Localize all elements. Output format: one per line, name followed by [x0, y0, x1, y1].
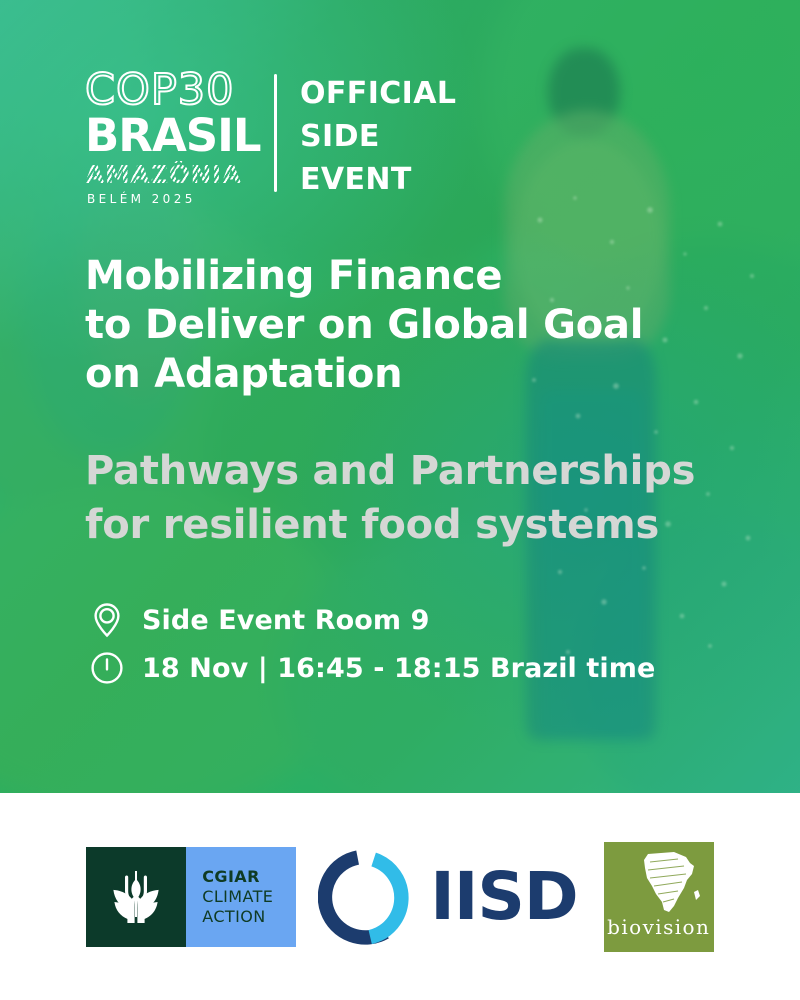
- iisd-wordmark: IISD: [430, 864, 577, 930]
- iisd-logo: IISD: [318, 849, 577, 945]
- event-title-line-1: Mobilizing Finance: [85, 252, 745, 301]
- africa-map-icon: [634, 848, 706, 920]
- event-time-row: 18 Nov | 16:45 - 18:15 Brazil time: [86, 644, 655, 692]
- cop30-logo-belem-line: BELÉM 2025: [85, 192, 260, 207]
- cop30-logo: COP30 BRASIL AMAZÔNIA BELÉM 2025: [85, 68, 260, 207]
- official-line-3: EVENT: [300, 158, 456, 201]
- cgiar-word-2: CLIMATE: [202, 887, 296, 907]
- cgiar-wheat-icon: [86, 847, 186, 947]
- official-line-2: SIDE: [300, 115, 456, 158]
- event-title-line-3: on Adaptation: [85, 350, 745, 399]
- event-time-text: 18 Nov | 16:45 - 18:15 Brazil time: [142, 653, 655, 684]
- badge-divider: [274, 74, 277, 192]
- iisd-ring-icon: [318, 849, 414, 945]
- biovision-wordmark: biovision: [604, 915, 714, 939]
- cop30-badge-row: COP30 BRASIL AMAZÔNIA BELÉM 2025 OFFICIA…: [85, 68, 456, 207]
- event-subtitle-line-2: for resilient food systems: [85, 498, 765, 552]
- event-subtitle-line-1: Pathways and Partnerships: [85, 444, 765, 498]
- event-subtitle: Pathways and Partnerships for resilient …: [85, 444, 765, 552]
- official-line-1: OFFICIAL: [300, 68, 456, 115]
- location-pin-icon: [86, 599, 128, 641]
- cgiar-word-1: CGIAR: [202, 867, 296, 887]
- cop30-logo-cop-line: COP30: [85, 68, 260, 112]
- clock-icon: [86, 647, 128, 689]
- event-details: Side Event Room 9 18 Nov | 16:45 - 18:15…: [86, 596, 655, 692]
- event-title-line-2: to Deliver on Global Goal: [85, 301, 745, 350]
- hero-banner: COP30 BRASIL AMAZÔNIA BELÉM 2025 OFFICIA…: [0, 0, 800, 793]
- official-side-event-label: OFFICIAL SIDE EVENT: [300, 68, 456, 201]
- cgiar-wordmark: CGIAR CLIMATE ACTION: [186, 847, 296, 947]
- event-poster: COP30 BRASIL AMAZÔNIA BELÉM 2025 OFFICIA…: [0, 0, 800, 1000]
- cop30-logo-brasil-line: BRASIL: [85, 113, 260, 159]
- partner-logo-bar: CGIAR CLIMATE ACTION IISD: [0, 793, 800, 1000]
- cgiar-word-3: ACTION: [202, 907, 296, 927]
- cop30-logo-amazonia-line: AMAZÔNIA: [85, 161, 260, 188]
- biovision-logo: biovision: [604, 842, 714, 952]
- event-location-row: Side Event Room 9: [86, 596, 655, 644]
- event-location-text: Side Event Room 9: [142, 605, 430, 636]
- event-title: Mobilizing Finance to Deliver on Global …: [85, 252, 745, 399]
- cgiar-climate-action-logo: CGIAR CLIMATE ACTION: [86, 847, 296, 947]
